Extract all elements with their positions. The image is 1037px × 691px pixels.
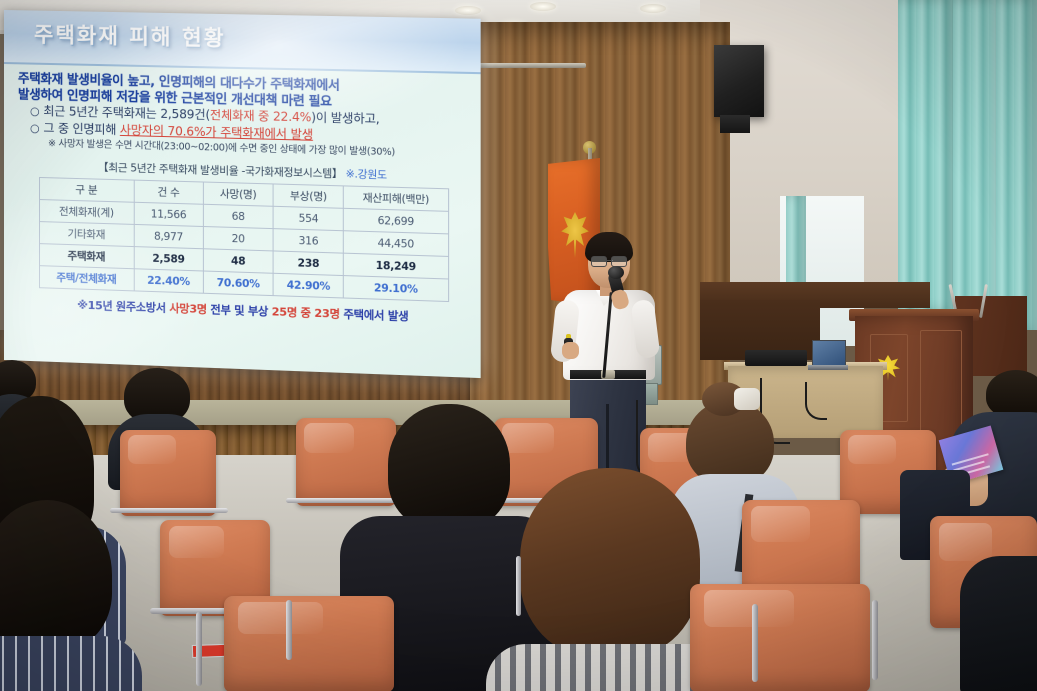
chair-leg [286, 600, 292, 660]
table-cell: 기타화재 [39, 222, 134, 247]
table-header-cell: 부상(명) [273, 184, 343, 208]
bottom-note-pre: ※15년 원주소방서 [77, 299, 169, 315]
ceiling-light-icon [455, 6, 481, 15]
chair-sheen [848, 435, 896, 464]
table-cell: 62,699 [344, 208, 448, 234]
bullet-1-highlight: 전체화재 중 22.4% [210, 108, 311, 125]
person-hair [388, 404, 510, 530]
chair-leg [752, 604, 758, 682]
chair-sheen [169, 526, 224, 559]
loudspeaker-icon [714, 45, 764, 117]
chair-sheen [939, 523, 993, 561]
slide-title: 주택화재 피해 현황 [34, 19, 226, 53]
curtain [953, 0, 1001, 320]
table-cell: 20 [203, 227, 273, 251]
laptop-base [808, 365, 848, 370]
chair-sheen [751, 506, 810, 541]
person-hair [986, 370, 1037, 418]
table-caption-province: ※.강원도 [346, 168, 387, 181]
chair-sheen [238, 602, 323, 635]
table-cell: 2,589 [134, 247, 203, 271]
table-caption-text: 【최근 5년간 주택화재 발생비율 -국가화재정보시스템】 [98, 162, 342, 181]
table-header-cell: 재산피해(백만) [344, 186, 448, 211]
bullet-2-pre: 그 중 인명피해 [43, 121, 119, 137]
chair[interactable] [690, 584, 870, 691]
ceiling-light-icon [640, 4, 666, 13]
speaker-bracket [720, 115, 750, 133]
chair[interactable] [224, 596, 394, 691]
wall-rail [466, 63, 586, 68]
chair[interactable] [120, 430, 216, 516]
fire-statistics-table: 구 분 건 수 사망(명) 부상(명) 재산피해(백만) 전체화재(계) 11,… [39, 177, 449, 302]
curtain [996, 0, 1037, 330]
table-header-cell: 구 분 [39, 177, 134, 202]
table-cell: 70.60% [203, 271, 273, 296]
table-cell: 68 [203, 204, 273, 228]
table-cell: 주택/전체화재 [39, 266, 134, 291]
chair-armrest [286, 498, 408, 503]
av-cable [805, 382, 827, 420]
table-header-cell: 사망(명) [203, 182, 273, 206]
chair-sheen [704, 590, 794, 627]
person-hair [520, 468, 700, 658]
table-cell: 주택화재 [39, 244, 134, 269]
laptop-screen [812, 340, 846, 368]
person-torso [960, 556, 1037, 691]
chair-leg [196, 612, 202, 686]
hair-clip-icon [734, 388, 760, 410]
table-cell: 8,977 [134, 224, 203, 248]
bullet-1-pre: 최근 5년간 주택화재는 2,589건( [43, 104, 210, 122]
bullet-1-post: )이 발생하고, [311, 110, 379, 126]
chair-sheen [128, 435, 176, 464]
bottom-note-post: 주택에서 발생 [340, 308, 409, 324]
bottom-note-mid: 전부 및 부상 [207, 303, 272, 318]
lecture-hall-photo: 주택화재 피해 현황 주택화재 발생비율이 높고, 인명피해의 대다수가 주택화… [0, 0, 1037, 691]
table-cell: 554 [273, 206, 343, 230]
av-equipment-box [745, 350, 807, 366]
slide-body: 주택화재 발생비율이 높고, 인명피해의 대다수가 주택화재에서 발생하여 인명… [4, 64, 481, 327]
bottom-note-red-2: 25명 중 23명 [272, 305, 340, 321]
bullet-marker-icon: ○ [30, 105, 39, 118]
table-cell: 전체화재(계) [39, 200, 134, 225]
ceiling-light-icon [530, 2, 556, 11]
person-torso [0, 636, 142, 691]
table-cell: 11,566 [134, 202, 203, 226]
presenter-hand-holding-pointer [562, 342, 579, 359]
bullet-marker-icon: ○ [30, 122, 39, 135]
chair-sheen [304, 423, 354, 453]
table-cell: 44,450 [344, 231, 448, 257]
table-cell: 48 [203, 249, 273, 274]
curtain [898, 0, 954, 310]
table-cell: 42.90% [273, 273, 343, 298]
chair[interactable] [296, 418, 396, 506]
table-cell: 316 [273, 229, 343, 254]
chair-sheen [502, 423, 554, 453]
bottom-note-red-1: 사망3명 [169, 302, 207, 316]
chair-leg [872, 600, 878, 680]
microphone-head-icon [608, 266, 624, 279]
table-cell: 22.40% [134, 269, 203, 294]
chair-armrest [110, 508, 228, 513]
chair-leg [516, 556, 521, 616]
projection-screen: 주택화재 피해 현황 주택화재 발생비율이 높고, 인명피해의 대다수가 주택화… [4, 10, 481, 378]
table-cell: 29.10% [344, 276, 448, 302]
eyeglasses-icon [591, 256, 627, 265]
table-header-cell: 건 수 [134, 180, 203, 204]
glasses-left-lens [591, 256, 607, 267]
table-cell: 238 [273, 251, 343, 276]
